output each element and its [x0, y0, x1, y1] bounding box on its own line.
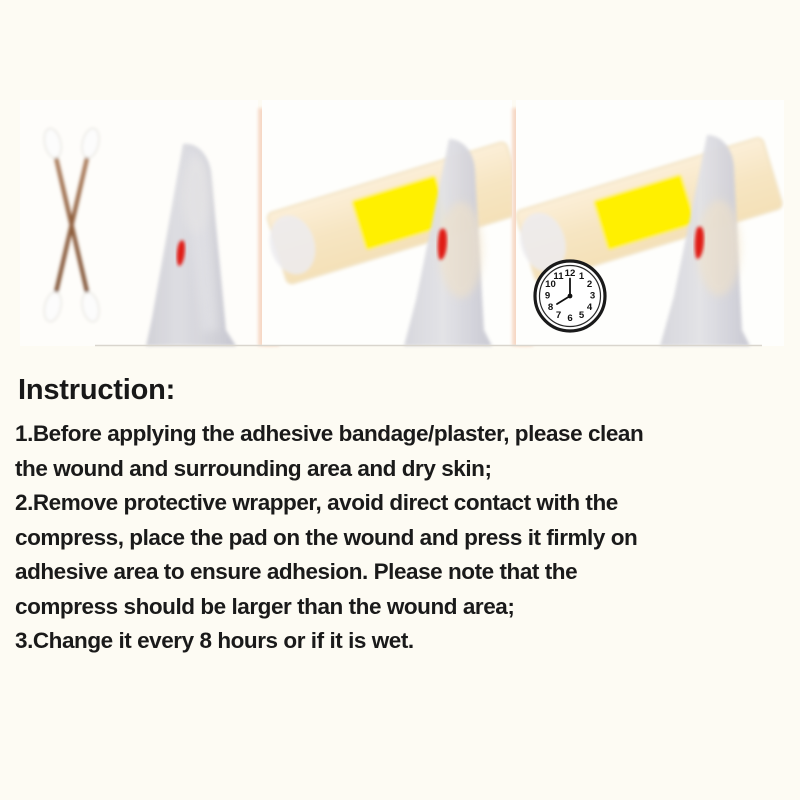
- instruction-line: adhesive area to ensure adhesion. Please…: [15, 555, 785, 590]
- illustration-graphic: 12 1 2 3 4 5 6 7 8 9 10 11: [0, 0, 800, 360]
- product-instruction-page: 12 1 2 3 4 5 6 7 8 9 10 11: [0, 0, 800, 800]
- svg-text:1: 1: [579, 271, 585, 282]
- instruction-line: compress, place the pad on the wound and…: [15, 521, 785, 556]
- panel-2-group: [261, 100, 527, 346]
- svg-text:4: 4: [587, 302, 593, 313]
- panel-1-group: [20, 100, 258, 346]
- instruction-illustration: 12 1 2 3 4 5 6 7 8 9 10 11: [0, 0, 800, 360]
- svg-text:8: 8: [548, 302, 554, 313]
- page-title: Instruction:: [18, 372, 785, 408]
- instruction-line: 3.Change it every 8 hours or if it is we…: [15, 624, 785, 659]
- svg-text:5: 5: [579, 310, 585, 321]
- svg-text:9: 9: [545, 291, 550, 302]
- panel-3-group: 12 1 2 3 4 5 6 7 8 9 10 11: [511, 100, 784, 346]
- instruction-line: 2.Remove protective wrapper, avoid direc…: [15, 486, 785, 521]
- instruction-line: the wound and surrounding area and dry s…: [15, 452, 785, 487]
- svg-text:3: 3: [590, 291, 595, 302]
- svg-text:6: 6: [567, 313, 572, 324]
- wall-clock: 12 1 2 3 4 5 6 7 8 9 10 11: [535, 261, 605, 331]
- svg-text:12: 12: [565, 268, 576, 279]
- svg-text:2: 2: [587, 279, 592, 290]
- instruction-step-list: 1.Before applying the adhesive bandage/p…: [15, 417, 785, 659]
- svg-text:11: 11: [553, 271, 564, 282]
- instruction-line: compress should be larger than the wound…: [15, 590, 785, 625]
- svg-text:7: 7: [556, 310, 561, 321]
- instruction-text-block: Instruction: 1.Before applying the adhes…: [15, 372, 785, 659]
- instruction-line: 1.Before applying the adhesive bandage/p…: [15, 417, 785, 452]
